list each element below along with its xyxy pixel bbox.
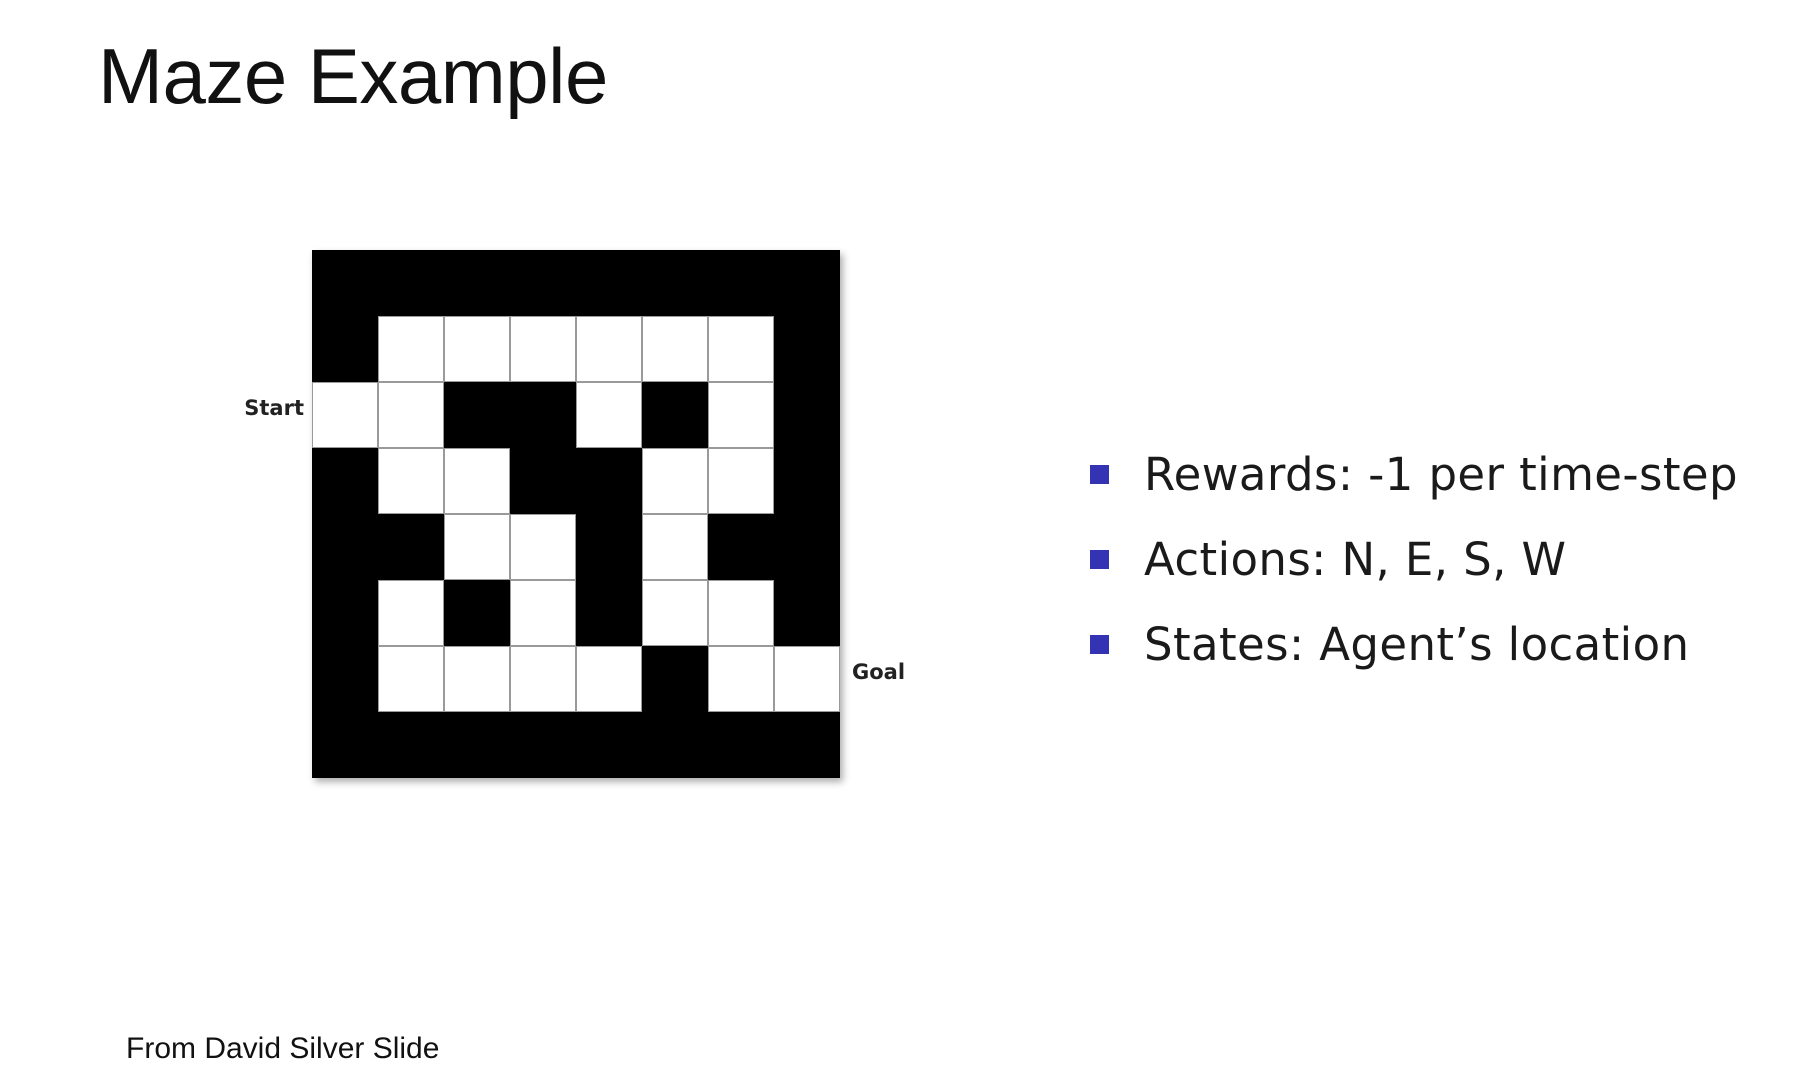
maze-cell-open	[576, 382, 642, 448]
maze-cell-open	[510, 514, 576, 580]
maze-cell-open	[312, 382, 378, 448]
maze-cell-wall	[642, 712, 708, 778]
maze-cell-wall	[642, 250, 708, 316]
maze-cell-open	[444, 448, 510, 514]
maze-goal-label: Goal	[852, 660, 905, 684]
maze-cell-open	[642, 514, 708, 580]
maze-cell-wall	[312, 316, 378, 382]
maze-cell-open	[510, 646, 576, 712]
maze-cell-open	[510, 580, 576, 646]
bullet-item-label: States: Agent’s location	[1144, 618, 1689, 671]
maze-cell-wall	[510, 250, 576, 316]
maze-cell-open	[576, 646, 642, 712]
maze-cell-wall	[774, 316, 840, 382]
bullet-item-label: Actions: N, E, S, W	[1144, 533, 1566, 586]
square-bullet-icon	[1090, 465, 1109, 484]
maze-cell-open	[378, 316, 444, 382]
maze-cell-wall	[312, 448, 378, 514]
maze-cell-wall	[378, 250, 444, 316]
maze-cell-open	[708, 646, 774, 712]
maze-cell-wall	[378, 514, 444, 580]
page-title: Maze Example	[98, 36, 608, 118]
maze-cell-open	[774, 646, 840, 712]
maze-cell-open	[708, 316, 774, 382]
maze-cell-open	[510, 316, 576, 382]
maze-cell-wall	[774, 514, 840, 580]
square-bullet-icon	[1090, 550, 1109, 569]
maze-cell-wall	[576, 448, 642, 514]
maze-cell-wall	[510, 712, 576, 778]
maze-cell-wall	[510, 382, 576, 448]
maze-cell-wall	[642, 382, 708, 448]
maze-cell-wall	[444, 250, 510, 316]
maze-cell-open	[444, 316, 510, 382]
maze-cell-wall	[312, 712, 378, 778]
maze-cell-open	[378, 580, 444, 646]
maze-cell-wall	[774, 448, 840, 514]
maze-cell-open	[444, 514, 510, 580]
maze-cell-wall	[378, 712, 444, 778]
maze-cell-open	[708, 448, 774, 514]
maze-cell-open	[708, 580, 774, 646]
maze-cell-open	[378, 646, 444, 712]
maze-cell-wall	[774, 580, 840, 646]
maze-cell-wall	[312, 250, 378, 316]
maze-cell-wall	[774, 712, 840, 778]
maze-cell-wall	[312, 646, 378, 712]
bullet-item: Rewards: -1 per time-step	[1090, 448, 1730, 501]
maze-grid	[312, 250, 840, 778]
maze-cell-wall	[708, 250, 774, 316]
maze-cell-open	[642, 316, 708, 382]
maze-cell-wall	[312, 514, 378, 580]
maze-figure: Start Goal	[240, 250, 940, 810]
maze-cell-wall	[576, 514, 642, 580]
maze-cell-wall	[774, 250, 840, 316]
maze-start-label: Start	[240, 396, 304, 420]
maze-cell-wall	[708, 712, 774, 778]
maze-cell-open	[708, 382, 774, 448]
maze-cell-open	[378, 448, 444, 514]
bullet-list: Rewards: -1 per time-stepActions: N, E, …	[1090, 448, 1730, 703]
maze-cell-wall	[444, 712, 510, 778]
maze-cell-open	[642, 448, 708, 514]
maze-cell-wall	[312, 580, 378, 646]
maze-cell-open	[378, 382, 444, 448]
maze-cell-open	[576, 316, 642, 382]
maze-cell-wall	[708, 514, 774, 580]
maze-cell-wall	[576, 712, 642, 778]
maze-cell-wall	[774, 382, 840, 448]
maze-cell-wall	[444, 580, 510, 646]
maze-cell-wall	[576, 580, 642, 646]
footer-attribution: From David Silver Slide	[126, 1032, 439, 1066]
maze-cell-wall	[642, 646, 708, 712]
bullet-item-label: Rewards: -1 per time-step	[1144, 448, 1738, 501]
maze-cell-wall	[444, 382, 510, 448]
square-bullet-icon	[1090, 635, 1109, 654]
maze-cell-wall	[510, 448, 576, 514]
maze-cell-open	[444, 646, 510, 712]
bullet-item: States: Agent’s location	[1090, 618, 1730, 671]
maze-cell-open	[642, 580, 708, 646]
maze-cell-wall	[576, 250, 642, 316]
bullet-item: Actions: N, E, S, W	[1090, 533, 1730, 586]
